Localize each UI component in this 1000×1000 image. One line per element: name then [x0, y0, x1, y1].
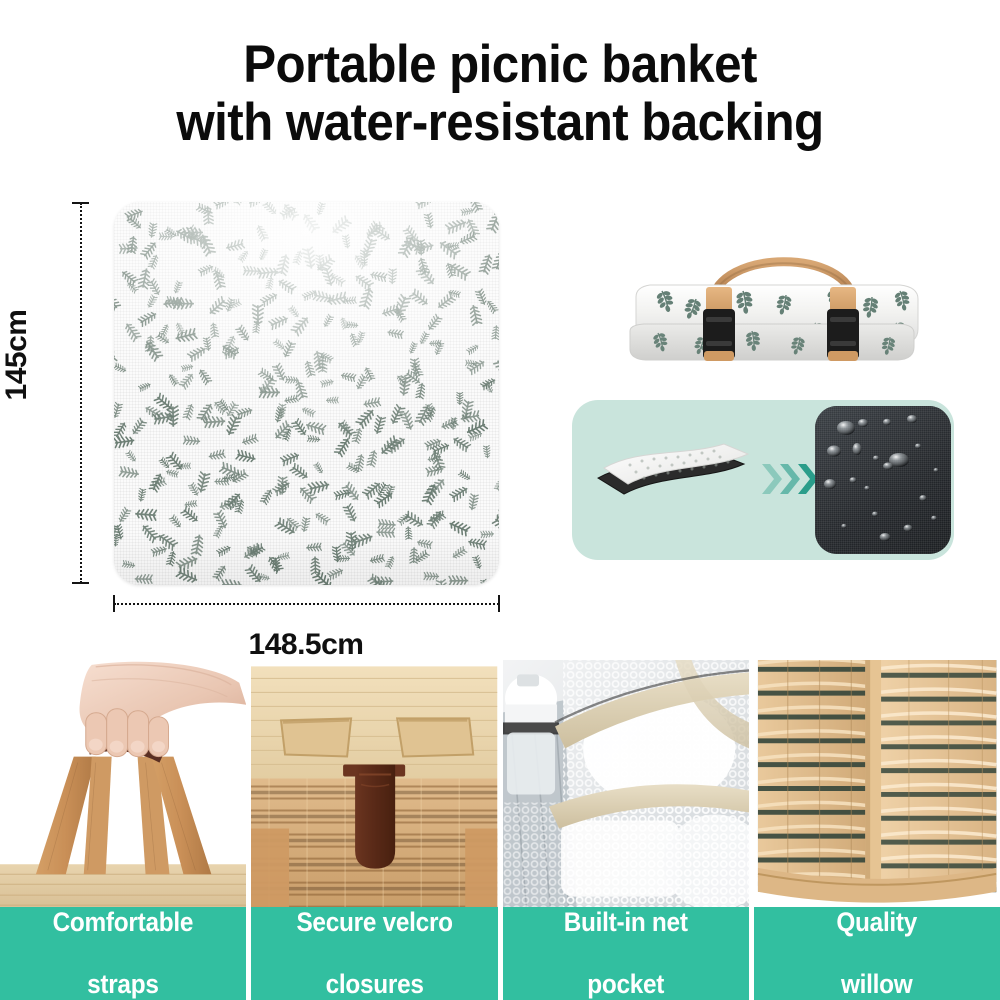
horizontal-dimension-line: [114, 603, 499, 605]
feature-card-built-in-net-pocket[interactable]: Built-in net pocket: [503, 660, 749, 1000]
feature-card-secure-velcro-closures[interactable]: Secure velcro closures: [251, 660, 497, 1000]
caption-line-2: willow: [837, 969, 918, 1000]
photo-woven-wicker-corner: [754, 660, 1000, 907]
caption-line-1: Quality: [837, 907, 918, 938]
caption-line-2: closures: [296, 969, 452, 1000]
water-repellent-swatch: [815, 406, 951, 554]
photo-velcro-strap-closure: [251, 660, 497, 907]
feature-caption-secure-velcro-closures: Secure velcro closures: [251, 907, 497, 1000]
feature-caption-comfortable-straps: Comfortable straps: [0, 907, 246, 1000]
fabric-layers-icon: [592, 432, 752, 527]
blanket-shading: [114, 202, 499, 585]
caption-line-2: straps: [53, 969, 194, 1000]
caption-line-1: Secure velcro: [296, 907, 452, 938]
vertical-dimension-line: [80, 203, 82, 583]
water-resistant-panel: [572, 400, 954, 560]
width-dimension-label: 148.5cm: [249, 628, 364, 662]
process-arrows-icon: [760, 458, 822, 500]
feature-photo-strip: Comfortable straps: [0, 660, 1000, 1000]
feature-caption-built-in-net-pocket: Built-in net pocket: [503, 907, 749, 1000]
feature-caption-quality-willow: Quality willow: [754, 907, 1000, 1000]
horizontal-dimension-cap-left: [113, 595, 115, 612]
page-title-line-1: Portable picnic banket: [35, 36, 965, 94]
page-title: Portable picnic banket with water-resist…: [0, 36, 1000, 152]
vertical-dimension-cap-bottom: [72, 582, 89, 584]
rolled-blanket-photo: [600, 225, 970, 390]
picnic-blanket-flat-view: [114, 202, 499, 585]
page-title-line-2: with water-resistant backing: [35, 94, 965, 152]
photo-mesh-net-pocket: [503, 660, 749, 907]
caption-line-1: Comfortable: [53, 907, 194, 938]
water-droplets: [815, 406, 951, 554]
vertical-dimension-cap-top: [72, 202, 89, 204]
height-dimension-label: 145cm: [0, 310, 34, 401]
caption-line-1: Built-in net: [564, 907, 688, 938]
feature-card-quality-willow[interactable]: Quality willow: [754, 660, 1000, 1000]
feature-card-comfortable-straps[interactable]: Comfortable straps: [0, 660, 246, 1000]
photo-hand-holding-straps: [0, 660, 246, 907]
horizontal-dimension-cap-right: [498, 595, 500, 612]
caption-line-2: pocket: [564, 969, 688, 1000]
